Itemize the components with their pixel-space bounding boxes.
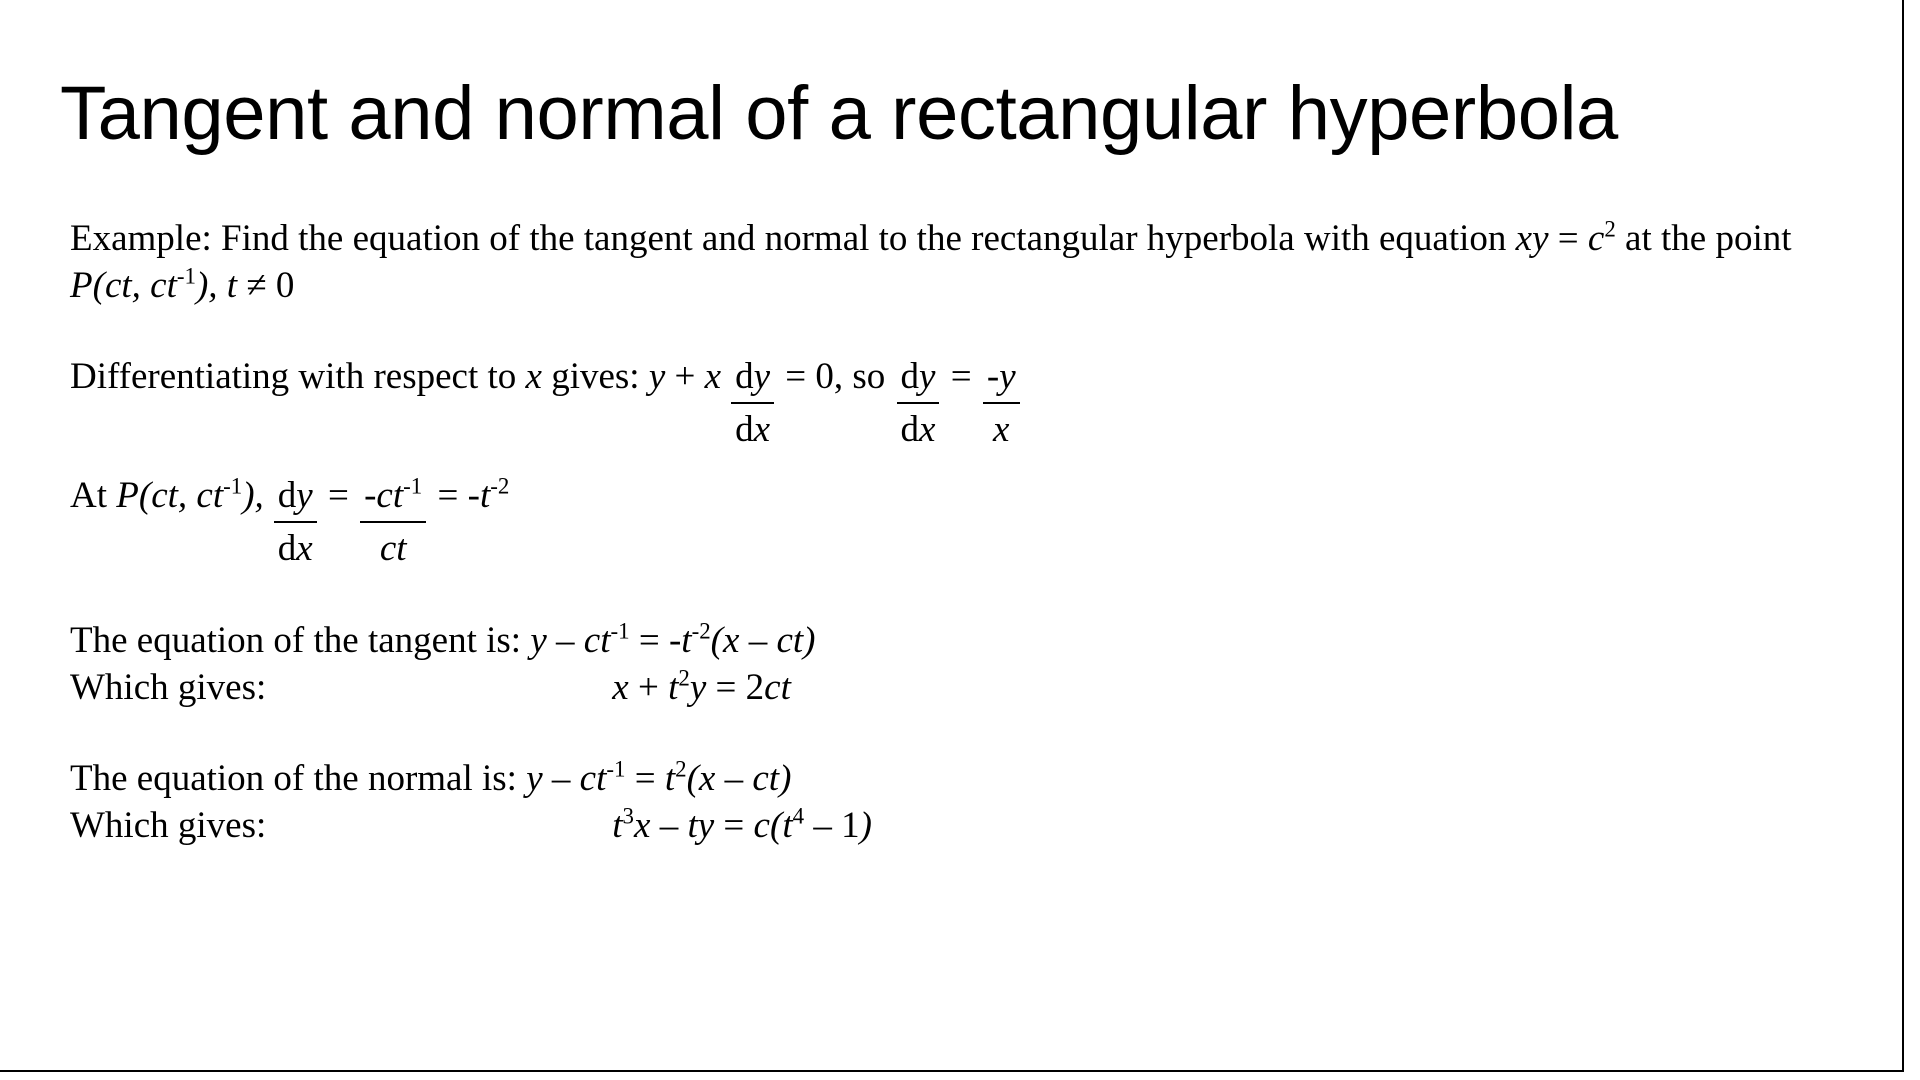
tangent-minus-2: –: [739, 620, 776, 661]
spacer-4: [70, 711, 1870, 755]
example-paragraph: Example: Find the equation of the tangen…: [70, 215, 1870, 309]
tangent-t-exponent: -2: [692, 619, 711, 644]
numerator-ct: ct: [376, 475, 403, 516]
fraction-numerator: dy: [274, 472, 317, 523]
numerator-y: y: [754, 356, 770, 397]
at-point-comma: ,: [178, 475, 197, 516]
tangent-label: The equation of the tangent is:: [70, 620, 530, 661]
tangent-result-y: y: [690, 667, 706, 708]
at-point-ct: ct: [151, 475, 178, 516]
normal-bracket-close: ): [779, 758, 791, 799]
spacer-2b: [70, 454, 1870, 472]
fraction-dy-dx-at-point: dydx: [274, 472, 317, 523]
normal-y: y: [526, 758, 542, 799]
fraction-dy-dx-first: dydx: [731, 353, 774, 404]
example-not-equal-zero: ≠ 0: [237, 265, 294, 306]
normal-t: t: [665, 758, 675, 799]
example-point-P: P: [70, 265, 93, 306]
fraction-numerator: dy: [897, 353, 940, 404]
normal-result-t2-exponent: 4: [793, 804, 804, 829]
example-equation-xy: xy: [1516, 218, 1549, 259]
example-ct-exponent: -1: [177, 264, 196, 289]
at-point-paren-close: ),: [242, 475, 264, 516]
normal-result-paren-open: (: [770, 805, 782, 846]
tangent-result-equals: = 2: [706, 667, 764, 708]
example-paren-close: ),: [196, 265, 227, 306]
fraction-numerator: -y: [983, 353, 1020, 404]
numerator-minus-sign: -: [987, 356, 999, 397]
tangent-minus: –: [547, 620, 584, 661]
differentiate-y: y: [649, 356, 665, 397]
fraction-minus-ct-inverse-over-ct: -ct-1ct: [360, 472, 426, 523]
example-ct-inverse: ct: [150, 265, 177, 306]
tangent-x: x: [723, 620, 739, 661]
fraction-dy-dx-second: dydx: [897, 353, 940, 404]
tangent-which-gives-label: Which gives:: [70, 667, 266, 708]
tangent-result-paragraph: Which gives:x + t2y = 2ct: [70, 664, 1870, 711]
normal-bracket-open: (: [687, 758, 699, 799]
fraction-denominator: x: [983, 404, 1020, 453]
normal-result-equals: =: [714, 805, 753, 846]
denominator-x: x: [919, 409, 935, 450]
numerator-d: d: [735, 356, 754, 397]
fraction-numerator: -ct-1: [360, 472, 426, 523]
tangent-sign: -: [669, 620, 681, 661]
fraction-denominator: dx: [897, 404, 940, 453]
numerator-d: d: [278, 475, 297, 516]
normal-result-x: x: [634, 805, 650, 846]
fraction-numerator: dy: [731, 353, 774, 404]
spacer-1: [70, 309, 1870, 353]
at-point-P: P: [116, 475, 139, 516]
denominator-d: d: [901, 409, 920, 450]
spacer-3b: [70, 573, 1870, 617]
denominator-x: x: [993, 409, 1009, 450]
fraction-denominator: dx: [274, 523, 317, 572]
slide-body: Example: Find the equation of the tangen…: [70, 215, 1870, 849]
at-point-result-t: t: [480, 475, 490, 516]
tangent-result-ct: ct: [764, 667, 791, 708]
example-ct: ct: [105, 265, 132, 306]
slide-canvas: Tangent and normal of a rectangular hype…: [0, 0, 1904, 1072]
spacer-2: [70, 404, 1870, 454]
tangent-bracket-close: ): [803, 620, 815, 661]
numerator-d: d: [901, 356, 920, 397]
example-t: t: [227, 265, 237, 306]
differentiate-variable-x: x: [526, 356, 542, 397]
numerator-minus-sign: -: [364, 475, 376, 516]
spacer-3: [70, 523, 1870, 573]
example-equals: =: [1549, 218, 1588, 259]
tangent-equation-paragraph: The equation of the tangent is: y – ct-1…: [70, 617, 1870, 664]
example-lead-text: Example: Find the equation of the tangen…: [70, 218, 1516, 259]
differentiate-x: x: [705, 356, 721, 397]
normal-result-t: t: [612, 805, 622, 846]
denominator-x: x: [296, 528, 312, 569]
example-comma: ,: [132, 265, 151, 306]
tangent-t: t: [681, 620, 691, 661]
normal-result-t2: t: [782, 805, 792, 846]
at-point-equals-1: =: [319, 475, 358, 516]
denominator-x: x: [754, 409, 770, 450]
tangent-result-plus: +: [629, 667, 668, 708]
normal-which-gives-label: Which gives:: [70, 805, 266, 846]
numerator-y: y: [919, 356, 935, 397]
at-point-paragraph: At P(ct, ct-1),dydx = -ct-1ct = -t-2: [70, 472, 1870, 523]
normal-result-paren-close: ): [860, 805, 872, 846]
differentiate-equals: =: [941, 356, 980, 397]
normal-ct-exponent: -1: [606, 757, 625, 782]
at-point-lead-text: At: [70, 475, 116, 516]
differentiate-equals-zero: = 0, so: [776, 356, 895, 397]
normal-result-ty-y: y: [698, 805, 714, 846]
tangent-equals: =: [630, 620, 669, 661]
normal-ct: ct: [580, 758, 607, 799]
tangent-result-x: x: [612, 667, 628, 708]
normal-result-paragraph: Which gives:t3x – ty = c(t4 – 1): [70, 802, 1870, 849]
example-paren-open: (: [93, 265, 105, 306]
normal-result-ty-t: t: [687, 805, 697, 846]
normal-result-t-exponent: 3: [623, 804, 634, 829]
differentiate-plus: +: [665, 356, 704, 397]
numerator-y: y: [999, 356, 1015, 397]
at-point-result-exponent: -2: [490, 474, 509, 499]
normal-minus: –: [543, 758, 580, 799]
normal-x: x: [699, 758, 715, 799]
tangent-result-t: t: [668, 667, 678, 708]
denominator-ct: ct: [380, 528, 407, 569]
at-point-ct-inverse: ct: [196, 475, 223, 516]
at-point-result-sign: -: [468, 475, 480, 516]
tangent-y: y: [530, 620, 546, 661]
normal-equation-paragraph: The equation of the normal is: y – ct-1 …: [70, 755, 1870, 802]
normal-ct-2: ct: [752, 758, 779, 799]
normal-result-minus: –: [650, 805, 687, 846]
numerator-y: y: [296, 475, 312, 516]
normal-result-minus-one: – 1: [804, 805, 860, 846]
tangent-ct-exponent: -1: [610, 619, 629, 644]
page-title: Tangent and normal of a rectangular hype…: [60, 70, 1860, 158]
differentiate-lead-text: Differentiating with respect to: [70, 356, 526, 397]
differentiate-paragraph: Differentiating with respect to x gives:…: [70, 353, 1870, 404]
at-point-ct-exponent: -1: [223, 474, 242, 499]
normal-equals: =: [625, 758, 664, 799]
tangent-ct-2: ct: [776, 620, 803, 661]
fraction-denominator: ct: [360, 523, 426, 572]
tangent-result-t-exponent: 2: [678, 666, 689, 691]
numerator-exponent: -1: [403, 474, 422, 499]
normal-t-exponent: 2: [675, 757, 686, 782]
fraction-minus-y-over-x: -yx: [983, 353, 1020, 404]
normal-result-c: c: [754, 805, 770, 846]
denominator-d: d: [278, 528, 297, 569]
at-point-paren-open: (: [139, 475, 151, 516]
example-mid-text: at the point: [1616, 218, 1792, 259]
at-point-equals-2: =: [428, 475, 467, 516]
differentiate-gives-text: gives:: [542, 356, 649, 397]
fraction-denominator: dx: [731, 404, 774, 453]
example-c-exponent: 2: [1604, 217, 1615, 242]
tangent-bracket-open: (: [711, 620, 723, 661]
normal-label: The equation of the normal is:: [70, 758, 526, 799]
denominator-d: d: [735, 409, 754, 450]
example-c: c: [1588, 218, 1604, 259]
normal-minus-2: –: [715, 758, 752, 799]
tangent-ct: ct: [584, 620, 611, 661]
